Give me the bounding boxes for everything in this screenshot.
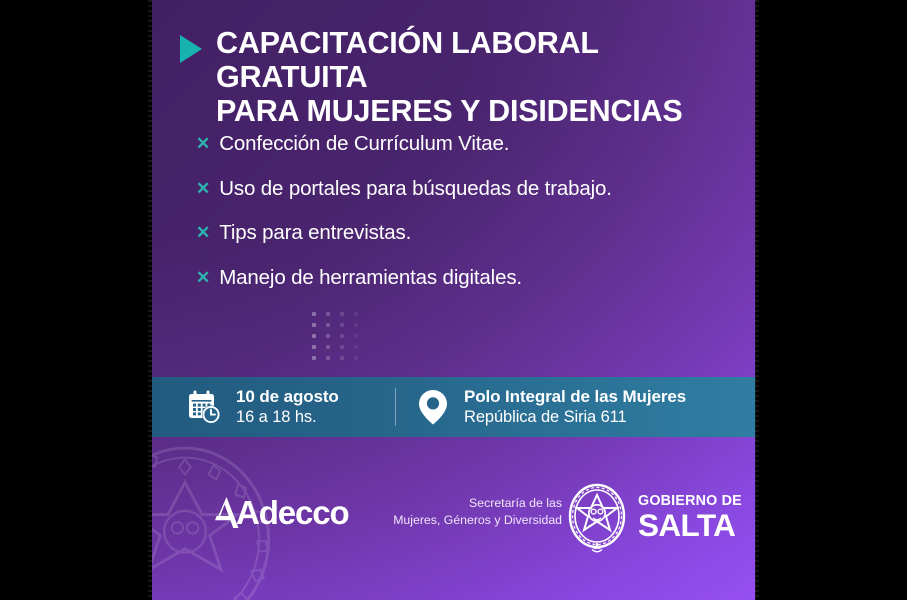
gobierno-salta-logo: GOBIERNO DE SALTA bbox=[566, 482, 742, 554]
cross-bullet-icon: ✕ bbox=[196, 180, 210, 197]
page-title: CAPACITACIÓN LABORAL GRATUITA PARA MUJER… bbox=[216, 26, 736, 128]
event-date-day: 10 de agosto bbox=[236, 386, 339, 407]
flyer-poster: CAPACITACIÓN LABORAL GRATUITA PARA MUJER… bbox=[152, 0, 756, 600]
map-pin-icon bbox=[416, 388, 450, 426]
adecco-logo-text: Adecco bbox=[236, 494, 349, 531]
play-triangle-icon bbox=[180, 35, 202, 63]
event-place-text: Polo Integral de las Mujeres República d… bbox=[464, 386, 686, 428]
right-edge-strip bbox=[755, 0, 759, 600]
list-item-label: Confección de Currículum Vitae. bbox=[219, 132, 509, 156]
event-place-block: Polo Integral de las Mujeres República d… bbox=[396, 386, 686, 428]
list-item-label: Manejo de herramientas digitales. bbox=[219, 266, 522, 290]
cross-bullet-icon: ✕ bbox=[196, 135, 210, 152]
list-item: ✕ Uso de portales para búsquedas de trab… bbox=[196, 177, 736, 201]
list-item: ✕ Tips para entrevistas. bbox=[196, 221, 736, 245]
gobierno-de-label: GOBIERNO DE bbox=[638, 494, 742, 508]
event-place-name: Polo Integral de las Mujeres bbox=[464, 386, 686, 407]
event-info-bar: 10 de agosto 16 a 18 hs. Polo Integral d… bbox=[152, 377, 756, 437]
footer-logos: Adecco Secretaría de las Mujeres, Género… bbox=[152, 437, 756, 600]
cross-bullet-icon: ✕ bbox=[196, 269, 210, 286]
cross-bullet-icon: ✕ bbox=[196, 224, 210, 241]
headline-row: CAPACITACIÓN LABORAL GRATUITA PARA MUJER… bbox=[180, 26, 736, 128]
adecco-logo: Adecco bbox=[215, 494, 349, 532]
secretaria-label: Secretaría de las Mujeres, Géneros y Div… bbox=[368, 495, 562, 528]
calendar-clock-icon bbox=[186, 389, 222, 425]
list-item-label: Tips para entrevistas. bbox=[219, 221, 411, 245]
salta-label: SALTA bbox=[638, 510, 742, 542]
event-place-address: República de Siria 611 bbox=[464, 407, 686, 427]
event-date-text: 10 de agosto 16 a 18 hs. bbox=[236, 386, 339, 428]
dot-grid-icon bbox=[312, 312, 368, 367]
left-edge-strip bbox=[148, 0, 152, 600]
screenshot-canvas: CAPACITACIÓN LABORAL GRATUITA PARA MUJER… bbox=[0, 0, 907, 600]
gobierno-salta-text: GOBIERNO DE SALTA bbox=[638, 494, 742, 542]
feature-list: ✕ Confección de Currículum Vitae. ✕ Uso … bbox=[196, 132, 736, 310]
salta-coat-of-arms-icon bbox=[566, 482, 628, 554]
list-item-label: Uso de portales para búsquedas de trabaj… bbox=[219, 177, 612, 201]
event-date-time: 16 a 18 hs. bbox=[236, 407, 339, 427]
event-date-block: 10 de agosto 16 a 18 hs. bbox=[152, 386, 395, 428]
list-item: ✕ Confección de Currículum Vitae. bbox=[196, 132, 736, 156]
list-item: ✕ Manejo de herramientas digitales. bbox=[196, 266, 736, 290]
